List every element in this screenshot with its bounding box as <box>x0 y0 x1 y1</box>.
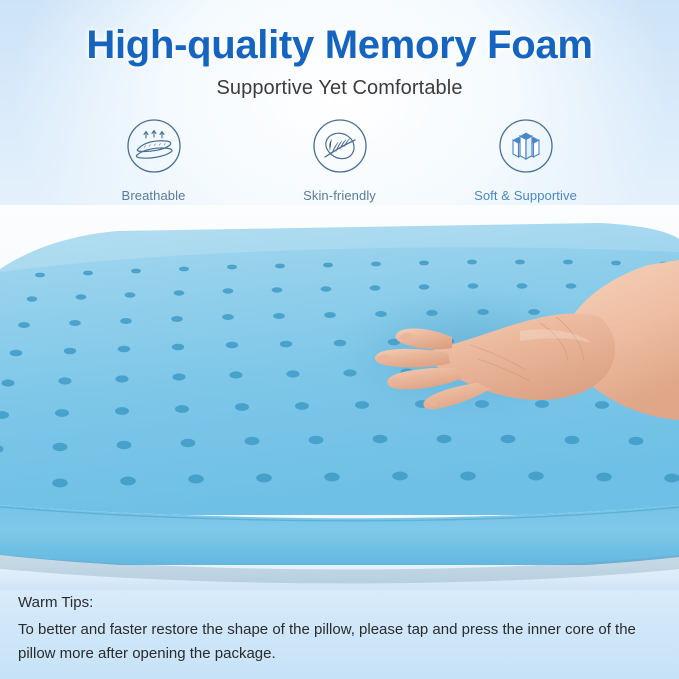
warm-tips-block: Warm Tips: To better and faster restore … <box>18 592 665 666</box>
page-subtitle: Supportive Yet Comfortable <box>0 68 679 100</box>
warm-tips-body: To better and faster restore the shape o… <box>18 618 665 666</box>
support-blocks-icon <box>498 118 554 174</box>
feature-label: Breathable <box>122 188 186 204</box>
product-photo <box>0 205 679 590</box>
feature-label: Soft & Supportive <box>474 188 577 204</box>
feature-list: Breathable Skin-friendly <box>0 118 679 204</box>
page-title: High-quality Memory Foam <box>0 0 679 68</box>
feature-item-soft-supportive: Soft & Supportive <box>462 118 590 204</box>
warm-tips-heading: Warm Tips: <box>18 592 665 614</box>
pillow-illustration <box>0 205 679 590</box>
feature-label: Skin-friendly <box>303 188 376 204</box>
feather-icon <box>312 118 368 174</box>
feature-item-skin-friendly: Skin-friendly <box>276 118 404 204</box>
feature-item-breathable: Breathable <box>90 118 218 204</box>
product-marketing-image: High-quality Memory Foam Supportive Yet … <box>0 0 679 679</box>
breathable-airflow-icon <box>126 118 182 174</box>
